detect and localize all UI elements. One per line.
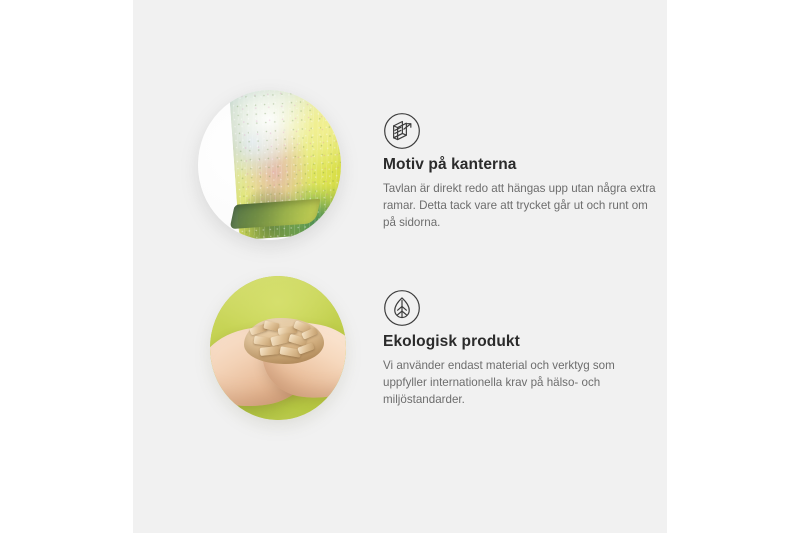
feature-text-motiv-pa-kanterna: Motiv på kanterna Tavlan är direkt redo …: [383, 156, 658, 231]
product-feature-page: Motiv på kanterna Tavlan är direkt redo …: [0, 0, 800, 533]
feature-block-ekologisk-produkt: Ekologisk produkt Vi använder endast mat…: [133, 258, 667, 438]
feature-description: Tavlan är direkt redo att hängas upp uta…: [383, 180, 658, 231]
wood-chip-pile: [244, 318, 324, 364]
feature-text-ekologisk-produkt: Ekologisk produkt Vi använder endast mat…: [383, 333, 658, 408]
feature-heading: Ekologisk produkt: [383, 333, 658, 352]
content-panel: Motiv på kanterna Tavlan är direkt redo …: [133, 0, 667, 533]
feature-block-motiv-pa-kanterna: Motiv på kanterna Tavlan är direkt redo …: [133, 70, 667, 250]
eco-wood-chips-photo: [210, 276, 346, 420]
canvas-print-edge-photo: [198, 90, 341, 240]
leaf-icon: [383, 289, 421, 327]
wrapped-canvas-edge-icon: [383, 112, 421, 150]
feature-description: Vi använder endast material och verktyg …: [383, 357, 658, 408]
feature-heading: Motiv på kanterna: [383, 156, 658, 175]
